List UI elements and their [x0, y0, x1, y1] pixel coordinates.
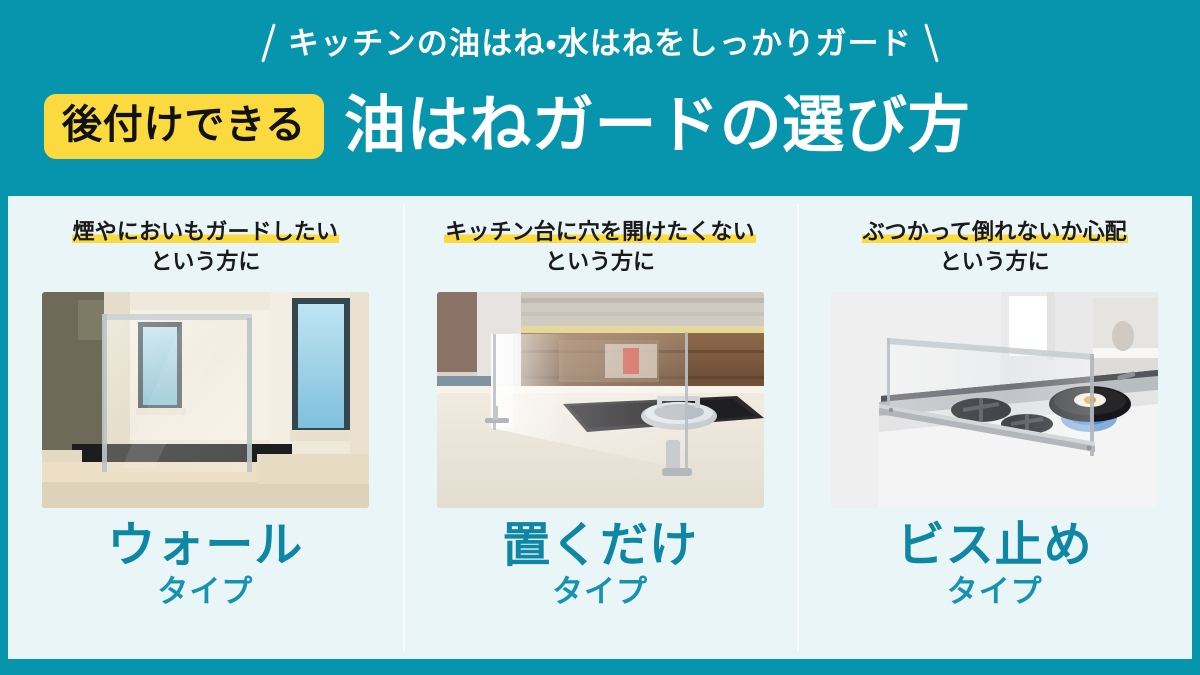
card-freestanding-type[interactable]: キッチン台に穴を開けたくない という方に	[403, 196, 798, 659]
card-type-main: ウォール	[107, 522, 303, 570]
card-heading-highlight: ぶつかって倒れないか心配	[862, 219, 1128, 244]
card-type-sub: タイプ	[502, 576, 698, 607]
card-heading-sub: という方に	[72, 248, 339, 275]
card-type-sub: タイプ	[897, 576, 1093, 607]
card-heading-highlight: 煙やにおいもガードしたい	[72, 219, 339, 244]
card-heading: ぶつかって倒れないか心配 という方に	[852, 218, 1138, 276]
card-panel: 煙やにおいもガードしたい という方に	[8, 196, 1192, 659]
card-wall-type[interactable]: 煙やにおいもガードしたい という方に	[8, 196, 403, 659]
card-type-label: ウォール タイプ	[107, 522, 303, 607]
slash-left-icon	[261, 23, 276, 62]
title-row: 後付けできる 油はねガードの選び方	[0, 72, 1200, 176]
card-heading: キッチン台に穴を開けたくない という方に	[434, 218, 766, 276]
card-heading-sub: という方に	[862, 248, 1128, 275]
card-screw-type[interactable]: ぶつかって倒れないか心配 という方に	[797, 196, 1192, 659]
card-photo-screw	[831, 292, 1158, 508]
slash-right-icon	[924, 23, 939, 62]
retrofit-badge: 後付けできる	[44, 94, 324, 159]
card-photo-wall	[42, 292, 369, 508]
card-type-sub: タイプ	[107, 576, 303, 607]
card-heading-highlight: キッチン台に穴を開けたくない	[444, 219, 756, 244]
card-heading: 煙やにおいもガードしたい という方に	[62, 218, 349, 276]
card-type-main: ビス止め	[897, 522, 1093, 570]
page-title: 油はねガードの選び方	[344, 95, 970, 157]
card-photo-freestanding	[437, 292, 764, 508]
card-heading-sub: という方に	[444, 248, 756, 275]
subtitle-row: キッチンの油はね・水はねをしっかりガード	[0, 0, 1200, 72]
kitchen-freestanding-guard-illustration	[437, 292, 764, 508]
header: キッチンの油はね・水はねをしっかりガード 後付けできる 油はねガードの選び方	[0, 0, 1200, 196]
header-subtitle: キッチンの油はね・水はねをしっかりガード	[288, 28, 912, 59]
kitchen-wall-guard-illustration	[42, 292, 369, 508]
card-type-label: 置くだけ タイプ	[502, 522, 698, 607]
card-type-label: ビス止め タイプ	[897, 522, 1093, 607]
card-type-main: 置くだけ	[502, 522, 698, 570]
poster-root: キッチンの油はね・水はねをしっかりガード 後付けできる 油はねガードの選び方 煙…	[0, 0, 1200, 675]
kitchen-screw-guard-illustration	[831, 292, 1158, 508]
